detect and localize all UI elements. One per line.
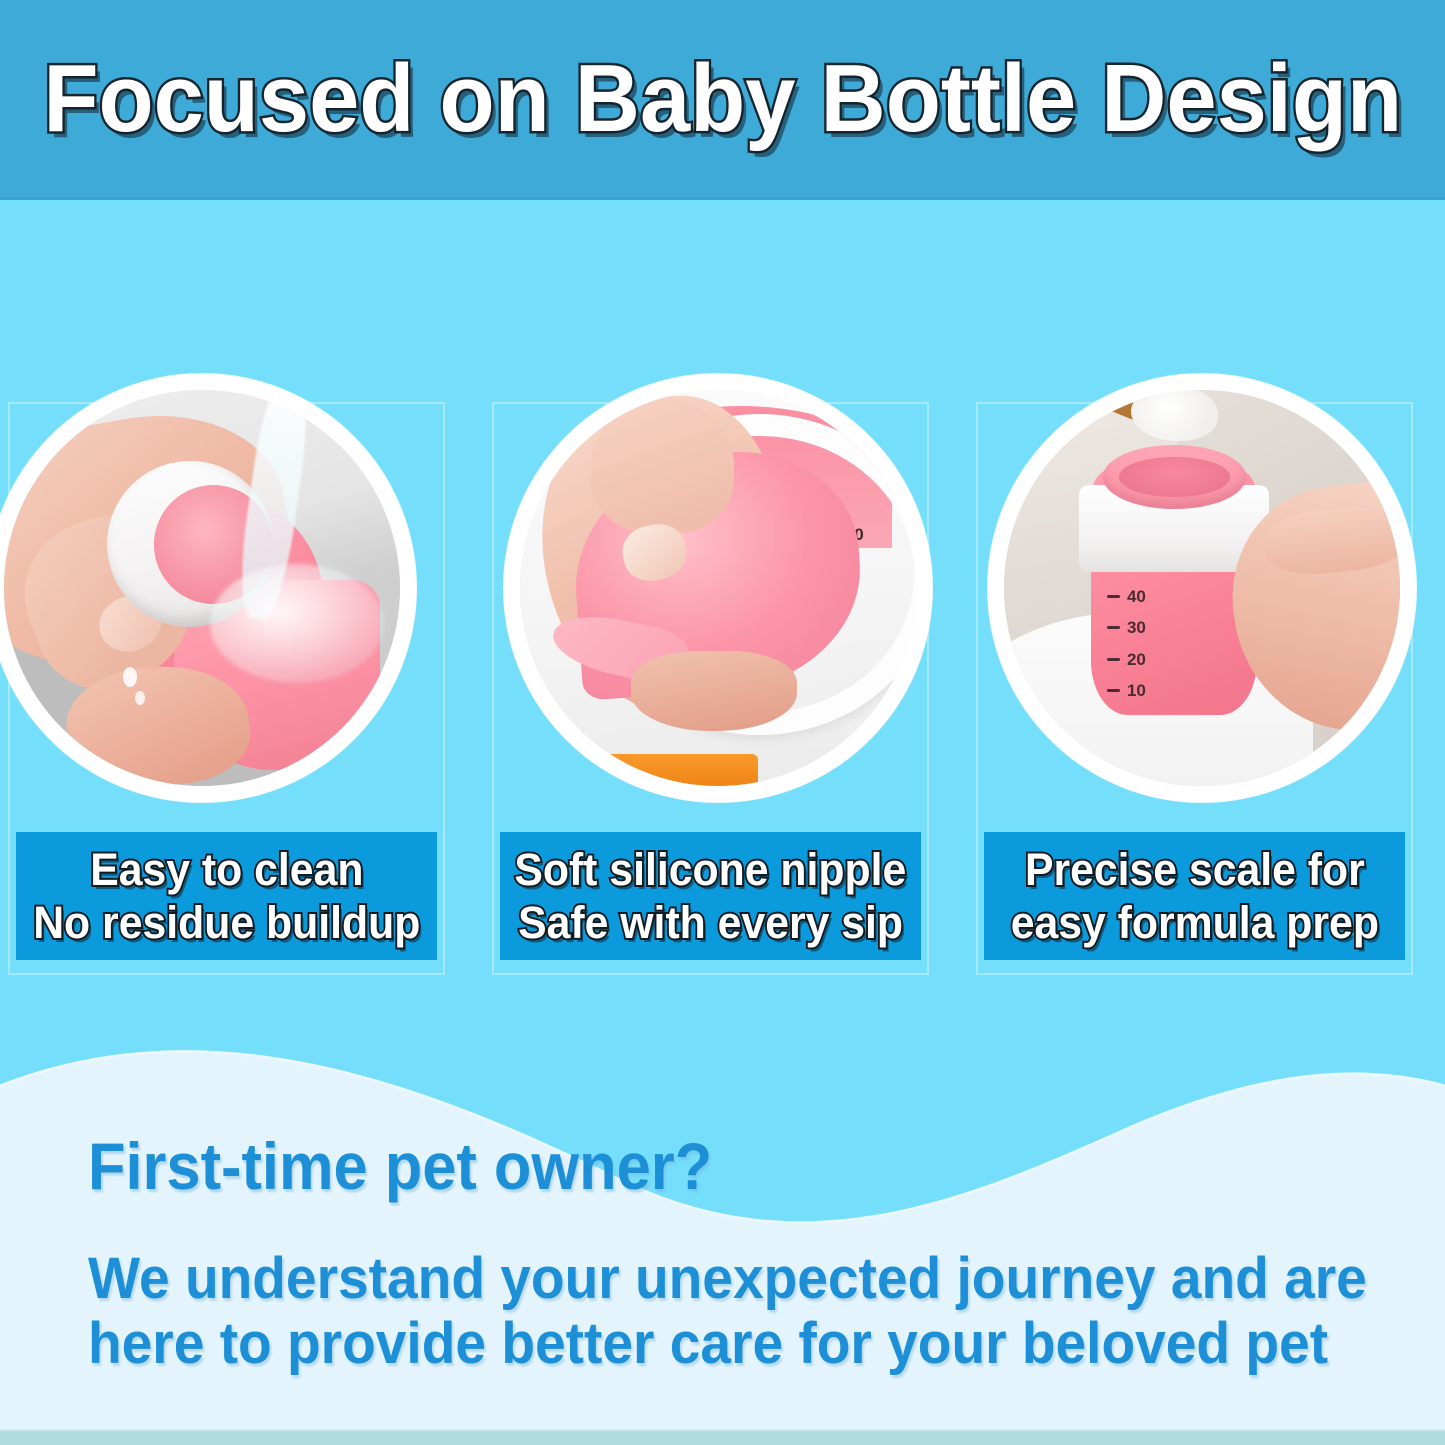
scale-tick-40: 40	[1107, 588, 1210, 605]
product-infographic-poster: Focused on Baby Bottle Design	[0, 0, 1445, 1445]
tick-dash-icon	[1107, 658, 1120, 661]
footer-text-block: First-time pet owner? We understand your…	[88, 1132, 1368, 1377]
tick-dash-icon	[1107, 689, 1120, 692]
caption-line-2b: Safe with every sip	[518, 896, 903, 949]
tick-dash-icon	[1107, 626, 1120, 629]
footer-subcopy: We understand your unexpected journey an…	[88, 1247, 1304, 1377]
feature-photo-circle-2: 40	[504, 374, 932, 802]
caption-line-3b: easy formula prep	[1010, 896, 1378, 949]
footer-subcopy-line-2: here to provide better care for your bel…	[88, 1312, 1304, 1377]
caption-bar-3: Precise scale for easy formula prep	[984, 832, 1405, 960]
bottle-scale-markings: 40 30 20 10	[1107, 588, 1210, 699]
tick-dash-icon	[1107, 595, 1120, 598]
caption-line-2a: Soft silicone nipple	[515, 843, 907, 896]
photo-soft-silicone-nipple: 40	[520, 390, 916, 786]
caption-bar-2: Soft silicone nipple Safe with every sip	[500, 832, 921, 960]
caption-line-1a: Easy to clean	[90, 843, 363, 896]
feature-card-easy-to-clean: Easy to clean No residue buildup	[8, 402, 445, 975]
footer-subcopy-line-1: We understand your unexpected journey an…	[88, 1247, 1304, 1312]
feature-photo-circle-1	[0, 374, 416, 802]
caption-line-3a: Precise scale for	[1025, 843, 1365, 896]
photo-precise-scale: 40 30 20 10	[1004, 390, 1400, 786]
scale-tick-30: 30	[1107, 619, 1210, 636]
feature-card-soft-nipple: 40 Soft silicone nipple Safe with every …	[492, 402, 929, 975]
caption-line-1b: No residue buildup	[33, 896, 420, 949]
scale-tick-10: 10	[1107, 682, 1210, 699]
photo-easy-to-clean	[4, 390, 400, 786]
caption-bar-1: Easy to clean No residue buildup	[16, 832, 437, 960]
feature-photo-circle-3: 40 30 20 10	[988, 374, 1416, 802]
feature-card-precise-scale: 40 30 20 10	[976, 402, 1413, 975]
scale-tick-20: 20	[1107, 651, 1210, 668]
footer-headline: First-time pet owner?	[88, 1132, 1278, 1201]
